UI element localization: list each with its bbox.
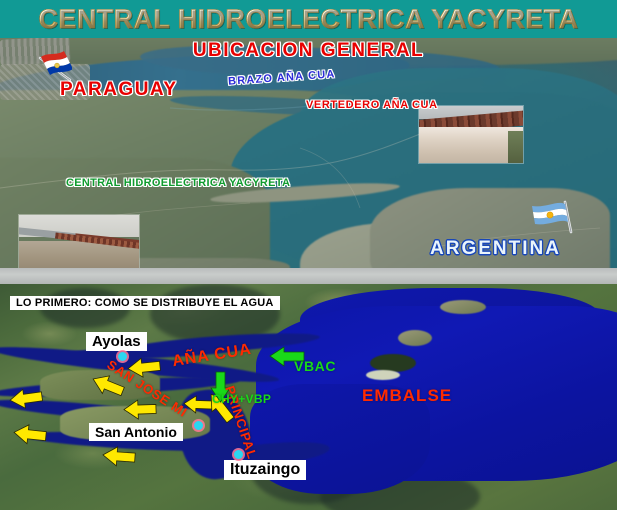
spillway-water	[419, 127, 523, 163]
label-argentina: ARGENTINA	[430, 238, 561, 260]
label-chy-vbp: CHY+VBP	[212, 392, 271, 406]
panel-separator	[0, 268, 617, 284]
bottom-map-heading: LO PRIMERO: COMO SE DISTRIBUYE EL AGUA	[10, 296, 280, 310]
arrow-yellow-4	[13, 423, 47, 445]
label-central-hidroelectrica-yacyreta: CENTRAL HIDROELECTRICA YACYRETA	[66, 177, 290, 189]
label-embalse: EMBALSE	[362, 386, 452, 406]
page-title: CENTRAL HIDROELECTRICA YACYRETA	[39, 4, 579, 35]
slide-root: CENTRAL HIDROELECTRICA YACYRETA	[0, 0, 617, 510]
label-vbac: VBAC	[294, 358, 336, 374]
city-label-san-antonio: San Antonio	[89, 423, 183, 441]
arrow-yellow-6	[124, 399, 157, 419]
spillway-photo	[418, 105, 524, 164]
arrow-yellow-5	[102, 446, 135, 467]
city-marker-ayolas	[118, 352, 127, 361]
powerhouse-photo	[18, 214, 140, 268]
arrow-yellow-3	[9, 387, 43, 410]
city-label-ituzaingo: Ituzaingo	[224, 460, 306, 480]
label-paraguay: PARAGUAY	[60, 79, 178, 101]
city-marker-san-antonio	[194, 421, 203, 430]
label-vertedero-ana-cua: VERTEDERO AÑA CUA	[306, 99, 438, 111]
flow-arrows-overlay	[0, 284, 617, 510]
city-label-ayolas: Ayolas	[86, 332, 147, 351]
spillway-vegetation	[508, 131, 523, 163]
top-map-heading: UBICACION GENERAL	[193, 40, 424, 62]
title-band: CENTRAL HIDROELECTRICA YACYRETA	[0, 0, 617, 38]
argentina-flag	[527, 198, 575, 236]
